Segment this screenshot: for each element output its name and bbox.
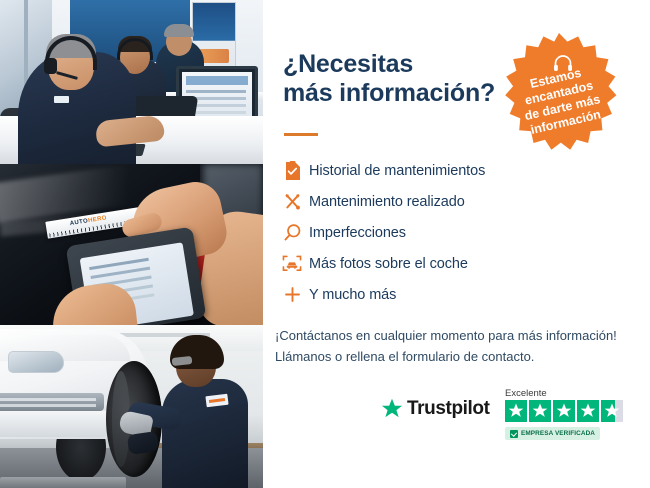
feature-label: Y mucho más [309,287,396,303]
document-check-icon [275,161,309,181]
title-divider [284,133,318,136]
heading-line-2: más información? [283,79,495,107]
photo-column: AUTOHERO [0,0,263,488]
feature-label: Más fotos sobre el coche [309,256,468,272]
feature-label: Imperfecciones [309,225,406,241]
trustpilot-widget[interactable]: Trustpilot Excelente EMPRESA VERIFICADA [381,390,641,452]
info-badge: Estamos encantados de darte más informac… [497,31,621,155]
mechanic-tyre-inspection-photo [0,325,263,488]
feature-item-imperfections: Imperfecciones [275,217,605,248]
ruler-brand-left: AUTO [69,218,88,227]
star-5 [601,400,623,422]
verified-company-badge: EMPRESA VERIFICADA [505,427,600,440]
info-banner: AUTOHERO [0,0,650,488]
feature-item-more-photos: Más fotos sobre el coche [275,248,605,279]
paragraph-line-1: ¡Contáctanos en cualquier momento para m… [275,328,617,343]
feature-label: Historial de mantenimientos [309,163,485,179]
feature-label: Mantenimiento realizado [309,194,465,210]
heading-line-1: ¿Necesitas [283,50,413,78]
call-center-agents-photo [0,0,263,164]
feature-item-much-more: Y mucho más [275,279,605,310]
content-panel: ¿Necesitas más información? Estamos enca… [263,0,650,488]
ruler-brand-right: HERO [88,215,108,224]
paragraph-line-2: Llámanos o rellena el formulario de cont… [275,349,534,364]
trustpilot-star-icon [381,398,403,420]
wrench-screwdriver-icon [275,192,309,211]
plus-icon [275,285,309,304]
feature-list: Historial de mantenimientos Mantenimient… [275,155,605,310]
star-4 [577,400,599,422]
feature-item-maintenance-history: Historial de mantenimientos [275,155,605,186]
feature-item-maintenance-done: Mantenimiento realizado [275,186,605,217]
trustpilot-stars [505,400,623,422]
magnifier-icon [275,223,309,242]
trustpilot-wordmark: Trustpilot [407,398,490,420]
star-1 [505,400,527,422]
verified-label: EMPRESA VERIFICADA [521,430,595,437]
car-photo-focus-icon [275,254,309,273]
car-inspection-ruler-photo: AUTOHERO [0,164,263,325]
trustpilot-rating-label: Excelente [505,388,547,399]
trustpilot-logo[interactable]: Trustpilot [381,398,490,420]
verified-check-icon [510,430,518,438]
contact-paragraph: ¡Contáctanos en cualquier momento para m… [275,325,635,367]
star-3 [553,400,575,422]
star-2 [529,400,551,422]
